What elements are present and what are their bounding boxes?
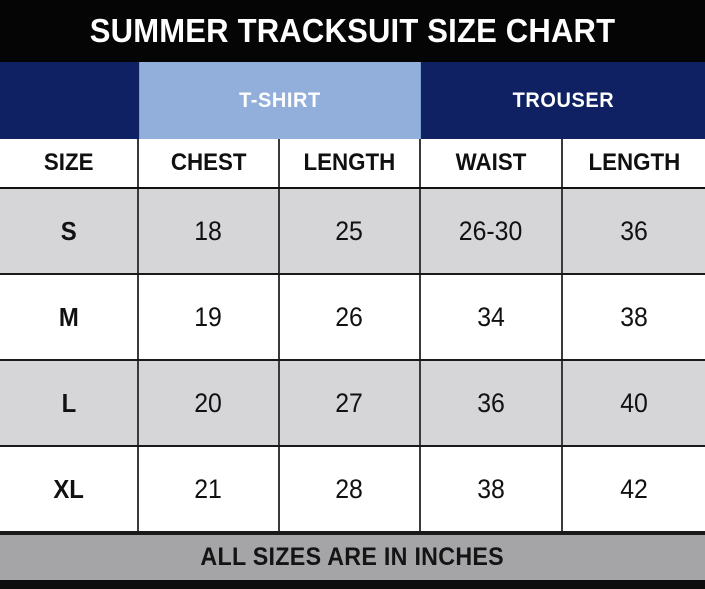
column-header-row: SIZE CHEST LENGTH WAIST LENGTH [0,139,705,189]
footer-note-band: ALL SIZES ARE IN INCHES [0,533,705,580]
page-title: SUMMER TRACKSUIT SIZE CHART [90,12,616,50]
cell-waist: 34 [421,275,563,359]
cell-chest: 18 [139,189,280,273]
group-header-trouser-label: TROUSER [512,89,614,113]
column-header-size: SIZE [0,139,139,187]
column-header-chest-label: CHEST [171,149,247,177]
cell-trouser-length-value: 40 [620,388,648,419]
column-header-trouser-length: LENGTH [563,139,705,187]
cell-waist: 36 [421,361,563,445]
group-header-blank [0,62,139,139]
column-header-tshirt-length-label: LENGTH [304,149,396,177]
cell-waist-value: 38 [477,474,505,505]
cell-size-value: L [61,388,76,419]
table-row: L 20 27 36 40 [0,361,705,447]
cell-trouser-length-value: 36 [620,216,648,247]
cell-trouser-length: 36 [563,189,705,273]
cell-size: M [0,275,139,359]
column-header-tshirt-length: LENGTH [280,139,421,187]
column-header-waist-label: WAIST [456,149,527,177]
cell-tshirt-length-value: 26 [336,302,364,333]
cell-size: XL [0,447,139,531]
cell-size-value: M [59,302,79,333]
cell-tshirt-length-value: 27 [336,388,364,419]
cell-waist-value: 36 [477,388,505,419]
cell-size: S [0,189,139,273]
group-header-tshirt-label: T-SHIRT [239,89,321,113]
cell-trouser-length: 42 [563,447,705,531]
column-header-size-label: SIZE [44,149,94,177]
cell-tshirt-length-value: 25 [336,216,364,247]
cell-waist: 26-30 [421,189,563,273]
cell-trouser-length-value: 42 [620,474,648,505]
cell-tshirt-length: 26 [280,275,421,359]
table-row: XL 21 28 38 42 [0,447,705,533]
cell-waist: 38 [421,447,563,531]
bottom-black-band [0,580,705,589]
cell-chest-value: 18 [195,216,223,247]
group-header-row: T-SHIRT TROUSER [0,62,705,139]
column-header-trouser-length-label: LENGTH [588,149,680,177]
cell-waist-value: 34 [477,302,505,333]
cell-size: L [0,361,139,445]
cell-chest: 20 [139,361,280,445]
column-header-chest: CHEST [139,139,280,187]
group-header-tshirt: T-SHIRT [139,62,421,139]
cell-chest: 19 [139,275,280,359]
table-row: S 18 25 26-30 36 [0,189,705,275]
cell-trouser-length: 38 [563,275,705,359]
cell-size-value: S [61,216,77,247]
cell-tshirt-length: 27 [280,361,421,445]
cell-size-value: XL [53,474,84,505]
cell-chest: 21 [139,447,280,531]
size-table: T-SHIRT TROUSER SIZE CHEST LENGTH WAIST … [0,62,705,580]
size-chart: SUMMER TRACKSUIT SIZE CHART T-SHIRT TROU… [0,0,705,570]
column-header-waist: WAIST [421,139,563,187]
cell-trouser-length-value: 38 [620,302,648,333]
cell-chest-value: 20 [195,388,223,419]
footer-note: ALL SIZES ARE IN INCHES [201,543,505,572]
cell-waist-value: 26-30 [459,216,523,247]
group-header-trouser: TROUSER [421,62,705,139]
cell-chest-value: 19 [195,302,223,333]
cell-trouser-length: 40 [563,361,705,445]
cell-tshirt-length-value: 28 [336,474,364,505]
title-band: SUMMER TRACKSUIT SIZE CHART [0,0,705,62]
table-row: M 19 26 34 38 [0,275,705,361]
cell-tshirt-length: 28 [280,447,421,531]
cell-tshirt-length: 25 [280,189,421,273]
cell-chest-value: 21 [195,474,223,505]
